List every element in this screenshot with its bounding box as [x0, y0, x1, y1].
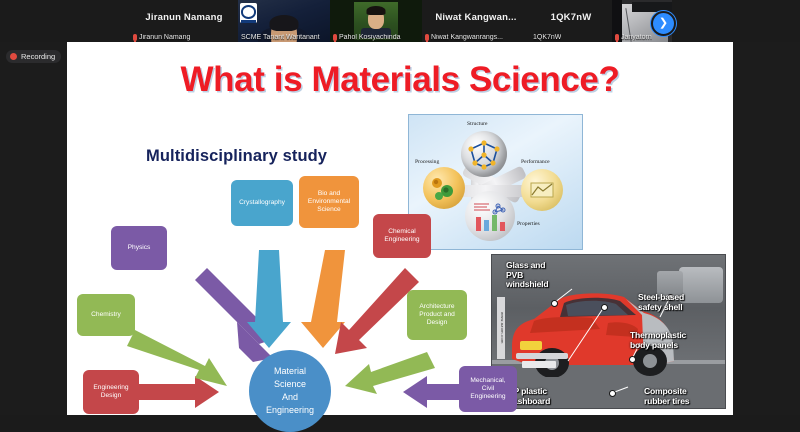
participant-name-label: Niwat Kangwanrangs... — [431, 34, 503, 41]
mic-muted-icon — [615, 34, 619, 41]
node-label: Crystallography — [239, 199, 285, 207]
next-participants-button[interactable]: ❯ — [651, 11, 676, 36]
participant-display-name: 1QK7nW — [530, 12, 612, 23]
slide-title: What is Materials Science? — [67, 60, 733, 100]
processing-ball-icon — [423, 167, 465, 209]
diagram-node-chemistry[interactable]: Chemistry — [77, 294, 135, 336]
tetra-label-processing: Processing — [415, 159, 439, 165]
car-materials-image: Glass and PVB windshield Steel-based saf… — [491, 254, 726, 409]
mic-muted-icon — [333, 34, 337, 41]
participant-name-bar: Jiranun Namang — [130, 34, 193, 41]
node-label: Architecture Product and Design — [419, 303, 455, 328]
participant-name-label: SCME Tanant Waritanant — [241, 34, 320, 41]
car-label-safety-shell: Steel-based safety shell — [638, 293, 684, 312]
tetra-label-performance: Performance — [521, 159, 550, 165]
participant-tile-0[interactable]: Jiranun Namang Jiranun Namang — [130, 0, 238, 42]
properties-ball-icon — [465, 191, 515, 241]
participant-name-label: Janyatorn — [621, 34, 652, 41]
node-label: Chemical Engineering — [384, 228, 419, 244]
participant-tile-2[interactable]: Pahol Kosiyachinda — [330, 0, 422, 42]
participant-display-name: Niwat Kangwan... — [422, 12, 530, 23]
participant-name-bar: 1QK7nW — [530, 34, 564, 41]
recording-dot-icon — [10, 53, 17, 60]
diagram-node-engineering-design[interactable]: Engineering Design — [83, 370, 139, 414]
diagram-center-node[interactable]: Material Science And Engineering — [249, 350, 331, 432]
participant-tile-3[interactable]: Niwat Kangwan... Niwat Kangwanrangs... — [422, 0, 530, 42]
participant-tile-4[interactable]: 1QK7nW 1QK7nW — [530, 0, 612, 42]
callout-dot-tires — [609, 390, 616, 397]
diagram-node-crystallography[interactable]: Crystallography — [231, 180, 293, 226]
structure-ball-icon — [461, 131, 507, 177]
car-label-tires: Composite rubber tires — [644, 387, 689, 406]
recording-indicator[interactable]: Recording — [6, 50, 61, 63]
participant-display-name: Jiranun Namang — [130, 12, 238, 23]
mic-muted-icon — [133, 34, 137, 41]
performance-ball-icon — [521, 169, 563, 211]
zoom-meeting-window: Jiranun Namang Jiranun Namang SCME Tanan… — [0, 0, 800, 415]
participant-name-label: Pahol Kosiyachinda — [339, 34, 401, 41]
diagram-node-chemical-engineering[interactable]: Chemical Engineering — [373, 214, 431, 258]
participant-tile-1[interactable]: SCME Tanant Waritanant — [238, 0, 330, 42]
participant-name-label: 1QK7nW — [533, 34, 561, 41]
node-label: Engineering Design — [93, 384, 128, 400]
diagram-node-physics[interactable]: Physics — [111, 226, 167, 270]
diagram-node-architecture-product-design[interactable]: Architecture Product and Design — [407, 290, 467, 340]
slide-subtitle: Multidisciplinary study — [146, 147, 327, 166]
callout-dot-dashboard — [601, 304, 608, 311]
node-label: Bio and Environmental Science — [308, 190, 350, 215]
recording-label: Recording — [21, 52, 55, 61]
diagram-node-mechanical-civil-engineering[interactable]: Mechanical, Civil Engineering — [459, 366, 517, 412]
diagram-node-bio-environmental-science[interactable]: Bio and Environmental Science — [299, 176, 359, 228]
callout-dot-body-panels — [629, 356, 636, 363]
materials-tetrahedron-image: Structure Processing Performance Propert… — [408, 114, 583, 250]
tetra-label-structure: Structure — [467, 121, 488, 127]
node-label: Mechanical, Civil Engineering — [470, 377, 505, 402]
car-label-body-panels: Thermoplastic body panels — [630, 331, 686, 350]
participant-name-bar: SCME Tanant Waritanant — [238, 34, 323, 41]
car-label-windshield: Glass and PVB windshield — [506, 261, 548, 290]
participant-name-label: Jiranun Namang — [139, 34, 190, 41]
shared-slide: What is Materials Science? Multidiscipli… — [67, 42, 733, 415]
participant-name-bar: Janyatorn — [612, 34, 655, 41]
tetra-label-properties: Properties — [517, 221, 540, 227]
chevron-right-icon: ❯ — [659, 18, 668, 29]
image-watermark: www.azom.com — [497, 297, 505, 359]
participant-filmstrip: Jiranun Namang Jiranun Namang SCME Tanan… — [0, 0, 800, 42]
mic-muted-icon — [425, 34, 429, 41]
node-label: Chemistry — [91, 311, 121, 319]
callout-dot-windshield — [551, 300, 558, 307]
participant-name-bar: Pahol Kosiyachinda — [330, 34, 404, 41]
participant-name-bar: Niwat Kangwanrangs... — [422, 34, 506, 41]
node-label: Physics — [128, 244, 151, 252]
organization-logo-icon — [240, 3, 257, 23]
